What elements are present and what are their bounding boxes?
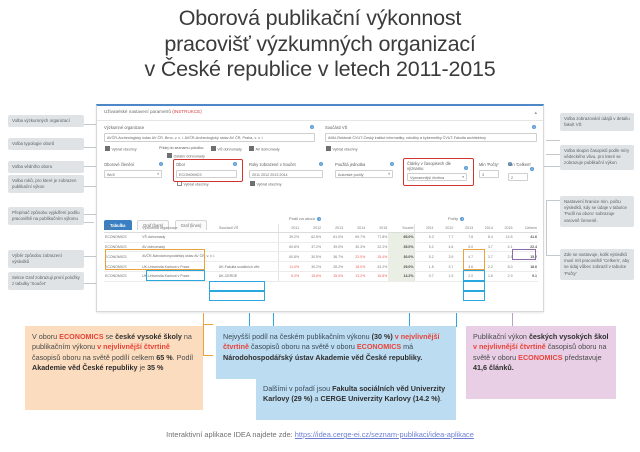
label-roky: Roky zobrazené v Součet bbox=[249, 162, 296, 167]
group-header-pocty: Počty i bbox=[448, 216, 463, 221]
label-min-pocty: Min 'Počty' bbox=[479, 162, 499, 167]
th-podil-2012[interactable]: 2012 bbox=[300, 224, 322, 233]
help-icon-obor[interactable]: i bbox=[233, 162, 237, 166]
cell-vs bbox=[218, 252, 278, 262]
cell-pocty-2012: 3.7 bbox=[435, 262, 455, 272]
checkbox-obor-select-all[interactable]: Vybrat všechny bbox=[177, 181, 209, 187]
title-line-1: Oborová publikační výkonnost bbox=[0, 6, 640, 32]
note-left-0: Volba výzkumných organizací bbox=[8, 115, 84, 127]
leader-left-6 bbox=[84, 283, 96, 284]
th-vyzkumna-organizace[interactable]: Výzkumná organizace bbox=[141, 224, 218, 233]
cell-pocty-celkem: 15.2 bbox=[514, 252, 538, 262]
panel-title: Uživatelské nastavení parametrů (INSTRUK… bbox=[104, 109, 202, 114]
leader-right-2 bbox=[546, 200, 560, 201]
cell-obor: ECONOMICS bbox=[104, 271, 141, 281]
cell-podil-2013: 39.0% bbox=[322, 242, 344, 252]
connector-blue-v3 bbox=[409, 313, 410, 327]
cell-obor: ECONOMICS bbox=[104, 242, 141, 252]
cell-podil-2013: 36.7% bbox=[322, 252, 344, 262]
cell-vo: UK-Universita Karlova v Praze bbox=[141, 271, 218, 281]
title-line-3: v České republice v letech 2011-2015 bbox=[0, 57, 640, 83]
cell-pocty-2014: 3.7 bbox=[474, 242, 494, 252]
table-row[interactable]: ECONOMICS AV dohromady 60.8% 37.2% 39.0%… bbox=[104, 242, 538, 252]
cell-podil-2015: 77.8% bbox=[366, 233, 388, 243]
table-row[interactable]: ECONOMICS VŠ dohromady 39.2% 62.8% 61.0%… bbox=[104, 233, 538, 243]
cell-podil-soucet: 14.2% bbox=[388, 271, 415, 281]
cell-podil-2013: 15.0% bbox=[322, 271, 344, 281]
highlight-soucet-cerge bbox=[463, 291, 485, 301]
cell-pocty-2015: 8.0 bbox=[494, 262, 514, 272]
cell-pocty-2013: 5.0 bbox=[454, 242, 474, 252]
input-soucasti-vs[interactable]: AMU-Rektorát ČVUT-Český institut informa… bbox=[325, 133, 537, 142]
th-podil-2015[interactable]: 2015 bbox=[366, 224, 388, 233]
label-vyzkumne-organizace: Výzkumné organizace bbox=[104, 125, 144, 130]
th-podil-2013[interactable]: 2013 bbox=[322, 224, 344, 233]
note-left-5: Výběr způsobu zobrazení výsledků bbox=[8, 250, 84, 268]
cell-vo: AVČR-Národohospodářský ústav AV ČR, v. v… bbox=[141, 252, 218, 262]
note-left-4: Přepínač způsobu vyjádření podílu pracov… bbox=[8, 207, 84, 225]
cell-podil-soucet: 30.0% bbox=[388, 252, 415, 262]
instructions-link[interactable]: (INSTRUKCE) bbox=[172, 109, 202, 114]
cell-podil-2011: 5.0% bbox=[278, 271, 300, 281]
label-clanky-dle-vyznamu: Články v časopisech dle významu bbox=[407, 161, 463, 171]
input-obor[interactable]: ECONOMICS bbox=[176, 170, 237, 178]
cell-podil-2015: 43.2% bbox=[366, 262, 388, 272]
checkbox-ostatni-dohromady[interactable]: Ostatní dohromady bbox=[167, 153, 205, 159]
th-pocty-2014[interactable]: 2014 bbox=[474, 224, 494, 233]
cell-podil-2014: 18.0% bbox=[344, 262, 366, 272]
checkbox-vo-select-all[interactable]: Vybrat všechny bbox=[105, 146, 137, 152]
highlight-soucet-fsv bbox=[463, 281, 485, 291]
help-icon-jednotka[interactable]: i bbox=[390, 162, 394, 166]
table-row[interactable]: ECONOMICS UK-Universita Karlova v Praze … bbox=[104, 262, 538, 272]
cell-podil-2012: 37.2% bbox=[300, 242, 322, 252]
cell-podil-2013: 28.2% bbox=[322, 262, 344, 272]
cell-podil-2011: 60.8% bbox=[278, 252, 300, 262]
checkbox-roky-select-all[interactable]: Vybrat všechny bbox=[250, 181, 282, 187]
cell-podil-2015: 22.2% bbox=[366, 242, 388, 252]
table-head: Obor Výzkumná organizace Součásti VŠ 201… bbox=[104, 224, 538, 233]
label-pouzita-jednotka: Použitá jednotka bbox=[335, 162, 365, 167]
note-right-0: Volba zobrazování údajů v detailu fakult… bbox=[560, 113, 634, 131]
cell-pocty-2014: 2.7 bbox=[474, 252, 494, 262]
cell-pocty-2011: 5.2 bbox=[415, 242, 435, 252]
leader-left-0 bbox=[84, 124, 96, 125]
label-obor: Obor bbox=[176, 162, 185, 167]
cell-pocty-2012: 4.6 bbox=[435, 242, 455, 252]
label-min-celkem: Min 'Celkem' bbox=[508, 162, 531, 167]
cell-podil-2014: 13.2% bbox=[344, 271, 366, 281]
group-header-pocty-label: Počty bbox=[448, 216, 458, 221]
callout-orange-text: V oboru ECONOMICS se české vysoké školy … bbox=[32, 332, 193, 372]
th-pocty-2013[interactable]: 2013 bbox=[454, 224, 474, 233]
leader-left-5 bbox=[84, 256, 96, 257]
th-obor[interactable]: Obor bbox=[104, 224, 141, 233]
cell-pocty-celkem: 9.1 bbox=[514, 271, 538, 281]
input-min-pocty[interactable]: 3 bbox=[479, 170, 499, 178]
parameters-form: Výzkumné organizace i AVČR-Archeologický… bbox=[97, 121, 543, 211]
table-row[interactable]: ECONOMICS UK-Universita Karlova v Praze … bbox=[104, 271, 538, 281]
leader-left-4 bbox=[84, 214, 96, 215]
note-left-3: Volba roků, pro které je zobrazen publik… bbox=[8, 175, 84, 193]
select-oborove-cleneni[interactable]: WoS bbox=[104, 170, 162, 178]
cell-vs: UK-CERGE bbox=[218, 271, 278, 281]
footer-link[interactable]: https://idea.cerge-ei.cz/seznam-publikac… bbox=[295, 430, 474, 439]
cell-vs bbox=[218, 233, 278, 243]
th-pocty-2012[interactable]: 2012 bbox=[435, 224, 455, 233]
note-left-6: Sekce Graf zobrazuji první položky z tab… bbox=[8, 272, 84, 290]
connector-orange-v2 bbox=[203, 324, 204, 356]
cell-pocty-2011: 5.2 bbox=[415, 252, 435, 262]
page-title: Oborová publikační výkonnost pracovišť v… bbox=[0, 6, 640, 83]
cell-podil-soucet: 35.0% bbox=[388, 242, 415, 252]
cell-pocty-2015: 14.5 bbox=[494, 233, 514, 243]
callout-blue-primary: Nejvyšší podíl na českém publikačním výk… bbox=[216, 326, 456, 379]
label-oborove-cleneni: Oborové členění bbox=[104, 162, 134, 167]
panel-title-text: Uživatelské nastavení parametrů bbox=[104, 109, 171, 114]
th-pocty-2015[interactable]: 2015 bbox=[494, 224, 514, 233]
help-icon-vs[interactable]: i bbox=[532, 125, 536, 129]
note-right-3: Zde se nastavuje, kolik výsledků musí mí… bbox=[560, 249, 634, 280]
highlight-fsv-row bbox=[209, 281, 265, 291]
cell-podil-2011: 39.2% bbox=[278, 233, 300, 243]
note-right-2: Nastavení hranice min. počtu výsledků, k… bbox=[560, 196, 634, 227]
results-table: Podíl na oboru i Počty i Obor Výzkumná o… bbox=[104, 224, 538, 282]
cell-podil-2015: 15.8% bbox=[366, 271, 388, 281]
cell-vs bbox=[218, 242, 278, 252]
help-icon-pocty[interactable]: i bbox=[460, 217, 464, 221]
cell-podil-2014: 69.7% bbox=[344, 233, 366, 243]
cell-podil-2014: 22.0% bbox=[344, 252, 366, 262]
table-body: ECONOMICS VŠ dohromady 39.2% 62.8% 61.0%… bbox=[104, 233, 538, 282]
help-icon-vo[interactable]: i bbox=[310, 125, 314, 129]
cell-podil-2013: 61.0% bbox=[322, 233, 344, 243]
title-line-2: pracovišť výzkumných organizací bbox=[0, 32, 640, 58]
cell-obor: ECONOMICS bbox=[104, 262, 141, 272]
cell-pocty-2011: 5.3 bbox=[415, 233, 435, 243]
leader-right-3 bbox=[546, 255, 560, 256]
callout-blue-secondary-text: Dalšími v pořadí jsou Fakulta sociálních… bbox=[263, 384, 445, 403]
cell-podil-2012: 62.8% bbox=[300, 233, 322, 243]
note-left-1: Volba typologie oborů bbox=[8, 138, 84, 150]
cell-vo: UK-Universita Karlova v Praze bbox=[141, 262, 218, 272]
cell-vs: UK-Fakulta sociálních věd bbox=[218, 262, 278, 272]
help-icon-podil[interactable]: i bbox=[317, 217, 321, 221]
callout-orange: V oboru ECONOMICS se české vysoké školy … bbox=[25, 326, 203, 410]
th-podil-2011[interactable]: 2011 bbox=[278, 224, 300, 233]
cell-vo: VŠ dohromady bbox=[141, 233, 218, 243]
input-roky[interactable]: 2011 2012 2013 2014 bbox=[249, 170, 323, 178]
th-podil-soucet[interactable]: Součet bbox=[388, 224, 415, 233]
cell-pocty-2013: 4.7 bbox=[454, 252, 474, 262]
label-add-item: Přidej do seznamu položku: bbox=[159, 146, 204, 150]
connector-violet-v bbox=[512, 313, 513, 327]
callout-blue-secondary: Dalšími v pořadí jsou Fakulta sociálních… bbox=[256, 378, 456, 420]
footer-text: Interaktivní aplikace IDEA najdete zde: bbox=[166, 430, 293, 439]
cell-pocty-2012: 7.7 bbox=[435, 233, 455, 243]
cell-podil-2011: 60.8% bbox=[278, 242, 300, 252]
connector-blue-v1 bbox=[249, 313, 250, 327]
leader-left-4b bbox=[84, 222, 94, 223]
cell-podil-2012: 15.6% bbox=[300, 271, 322, 281]
connector-orange-v bbox=[203, 313, 204, 325]
select-pouzita-jednotka[interactable]: Autorské podíly bbox=[335, 170, 393, 178]
cell-obor: ECONOMICS bbox=[104, 233, 141, 243]
group-header-podil: Podíl na oboru i bbox=[289, 216, 320, 221]
cell-pocty-2011: 1.8 bbox=[415, 262, 435, 272]
note-left-2: Volba vědního oboru bbox=[8, 161, 84, 173]
connector-orange-h2 bbox=[203, 355, 213, 356]
cell-podil-2012: 30.2% bbox=[300, 262, 322, 272]
cell-pocty-2015: 2.9 bbox=[494, 271, 514, 281]
th-soucasti-vs[interactable]: Součásti VŠ bbox=[218, 224, 278, 233]
leader-right-vert bbox=[546, 200, 547, 256]
cell-obor: ECONOMICS bbox=[104, 252, 141, 262]
th-pocty-celkem[interactable]: Celkem bbox=[514, 224, 538, 233]
table-header-row: Obor Výzkumná organizace Součásti VŠ 201… bbox=[104, 224, 538, 233]
callout-blue-primary-text: Nejvyšší podíl na českém publikačním výk… bbox=[223, 332, 440, 362]
cell-pocty-2014: 8.4 bbox=[474, 233, 494, 243]
cell-pocty-celkem: 18.6 bbox=[514, 262, 538, 272]
cell-podil-soucet: 65.0% bbox=[388, 233, 415, 243]
select-clanky-dle-vyznamu[interactable]: Významnější čtvrtina bbox=[407, 173, 467, 181]
cell-podil-2014: 30.3% bbox=[344, 242, 366, 252]
cell-podil-soucet: 29.0% bbox=[388, 262, 415, 272]
cell-pocty-celkem: 22.4 bbox=[514, 242, 538, 252]
cell-pocty-2013: 2.0 bbox=[454, 271, 474, 281]
cell-pocty-2011: 0.7 bbox=[415, 271, 435, 281]
cell-vo: AV dohromady bbox=[141, 242, 218, 252]
cell-podil-2011: 11.0% bbox=[278, 262, 300, 272]
checkbox-vs-dohromady[interactable]: VŠ dohromady bbox=[211, 146, 242, 152]
help-icon-cleneni[interactable]: i bbox=[159, 162, 163, 166]
callout-violet-text: Publikační výkon českých vysokých škol v… bbox=[473, 332, 608, 372]
cell-pocty-2013: 7.8 bbox=[454, 233, 474, 243]
input-min-celkem[interactable]: 2 bbox=[508, 173, 528, 181]
cell-pocty-2014: 2.2 bbox=[474, 262, 494, 272]
label-soucasti-vs: Součásti VŠ bbox=[325, 125, 347, 130]
help-icon-clanky[interactable]: i bbox=[464, 166, 468, 170]
checkbox-vs-select-all[interactable]: Vybrat všechny bbox=[326, 146, 358, 152]
group-header-podil-label: Podíl na oboru bbox=[289, 216, 315, 221]
highlight-cerge-row bbox=[209, 291, 265, 301]
cell-pocty-2015: 2.9 bbox=[494, 252, 514, 262]
leader-right-1 bbox=[546, 154, 560, 155]
th-pocty-2011[interactable]: 2011 bbox=[415, 224, 435, 233]
leader-right-0 bbox=[546, 140, 560, 141]
footer: Interaktivní aplikace IDEA najdete zde: … bbox=[0, 430, 640, 439]
leader-left-1 bbox=[84, 147, 96, 148]
checkbox-av-dohromady[interactable]: AV dohromady bbox=[249, 146, 280, 152]
help-icon-min-celkem[interactable]: i bbox=[530, 167, 534, 171]
cell-pocty-2012: 1.9 bbox=[435, 271, 455, 281]
connector-blue-v2 bbox=[273, 313, 274, 327]
table-row[interactable]: ECONOMICS AVČR-Národohospodářský ústav A… bbox=[104, 252, 538, 262]
cell-podil-2012: 30.5% bbox=[300, 252, 322, 262]
page-root: Oborová publikační výkonnost pracovišť v… bbox=[0, 0, 640, 452]
cell-podil-2015: 15.4% bbox=[366, 252, 388, 262]
chevron-up-icon[interactable]: ▴ bbox=[534, 110, 537, 116]
input-vyzkumne-organizace[interactable]: AVČR-Archeologický ústav AV ČR, Brno, v.… bbox=[104, 133, 315, 142]
cell-pocty-2014: 1.6 bbox=[474, 271, 494, 281]
table-element: Obor Výzkumná organizace Součásti VŠ 201… bbox=[104, 224, 538, 282]
cell-pocty-2013: 3.6 bbox=[454, 262, 474, 272]
callout-violet: Publikační výkon českých vysokých škol v… bbox=[466, 326, 616, 399]
connector-blue-v4 bbox=[456, 313, 457, 327]
note-right-1: Volba skupin časopisů podle míry vědecké… bbox=[560, 145, 634, 170]
help-icon-roky[interactable]: i bbox=[319, 162, 323, 166]
cell-pocty-celkem: 41.6 bbox=[514, 233, 538, 243]
app-panel: Uživatelské nastavení parametrů (INSTRUK… bbox=[96, 104, 544, 312]
th-podil-2014[interactable]: 2014 bbox=[344, 224, 366, 233]
cell-pocty-2012: 3.9 bbox=[435, 252, 455, 262]
connector-orange-h bbox=[203, 324, 213, 325]
cell-pocty-2015: 4.1 bbox=[494, 242, 514, 252]
